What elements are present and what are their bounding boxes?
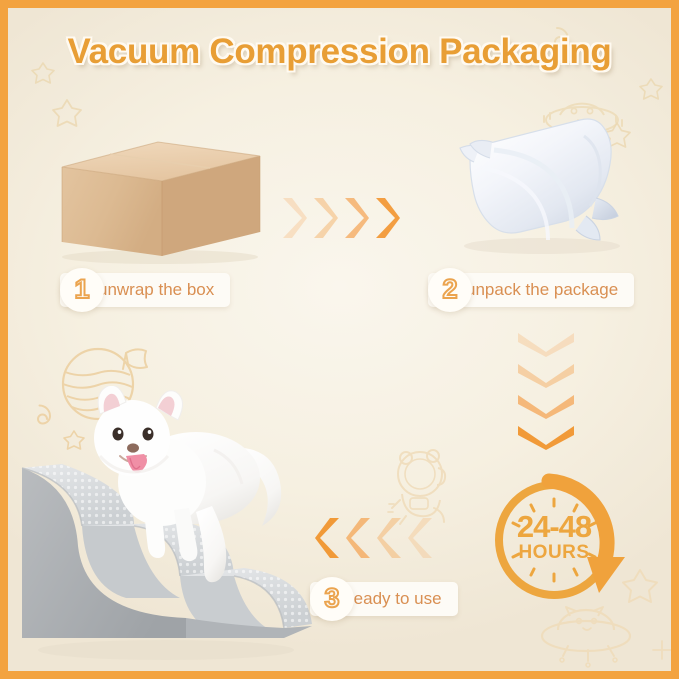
chevron-left-icon xyxy=(407,516,435,560)
infographic-poster: Vacuum Compression Packaging 1 xyxy=(0,0,679,679)
step-1-badge: 1 xyxy=(60,268,104,312)
timer-unit: HOURS xyxy=(479,543,629,562)
sparkle-doodle-bottom-right xyxy=(650,638,674,662)
chevron-down-icon xyxy=(516,330,576,358)
vacuum-bag-icon xyxy=(446,106,634,256)
step-3-badge: 3 xyxy=(310,577,354,621)
chevron-left-icon xyxy=(345,516,373,560)
chevron-left-icon xyxy=(314,516,342,560)
step-2-badge: 2 xyxy=(428,268,472,312)
left-chevron-arrows xyxy=(314,516,435,560)
cardboard-box-icon xyxy=(50,134,266,264)
step-3-text: ready to use xyxy=(348,589,442,609)
chevron-right-icon xyxy=(280,196,308,240)
step-3-number: 3 xyxy=(324,585,339,614)
step-2-number: 2 xyxy=(442,276,457,305)
chevron-right-icon xyxy=(373,196,401,240)
right-chevron-arrows xyxy=(280,196,401,240)
chevron-right-icon xyxy=(311,196,339,240)
chevron-left-icon xyxy=(376,516,404,560)
chevron-down-icon xyxy=(516,423,576,451)
down-chevron-arrows xyxy=(516,330,576,451)
step-2-label: 2 unpack the package xyxy=(428,273,634,307)
step-2-text: unpack the package xyxy=(466,280,618,300)
step-1-number: 1 xyxy=(74,276,89,305)
chevron-down-icon xyxy=(516,361,576,389)
page-title: Vacuum Compression Packaging xyxy=(8,32,671,72)
step-1-label: 1 unwrap the box xyxy=(60,273,230,307)
step-3-label: 3 ready to use xyxy=(310,582,458,616)
timer-duration: 24-48 xyxy=(479,511,629,542)
clock-arrow-icon: 24-48 HOURS xyxy=(479,473,629,613)
chevron-right-icon xyxy=(342,196,370,240)
star-doodle-top-right xyxy=(638,76,664,102)
pet-stairs-with-dog-icon xyxy=(16,386,316,666)
step-1-text: unwrap the box xyxy=(98,280,214,300)
star-doodle-top-left-2 xyxy=(50,96,84,130)
chevron-down-icon xyxy=(516,392,576,420)
